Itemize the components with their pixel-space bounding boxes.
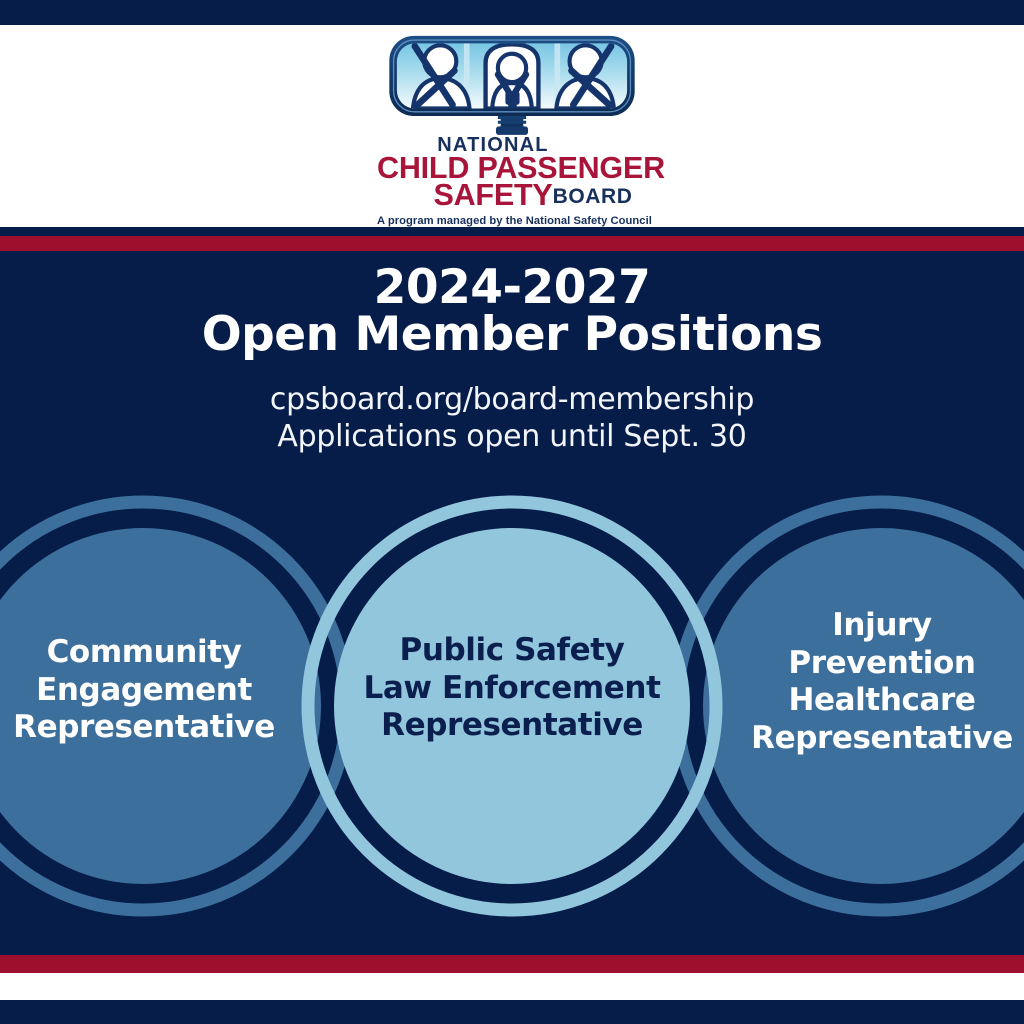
position-circles-group: Community Engagement Representative Publ… <box>0 0 1024 1024</box>
circles-svg <box>0 0 1024 1024</box>
circle-label-line: Healthcare <box>742 682 1022 720</box>
circle-label-line: Law Enforcement <box>342 670 682 708</box>
circle-label-line: Representative <box>342 707 682 745</box>
circle-label-community-engagement: Community Engagement Representative <box>4 634 284 747</box>
circle-label-line: Public Safety <box>342 632 682 670</box>
circle-label-line: Prevention <box>742 645 1022 683</box>
circle-label-line: Representative <box>4 709 284 747</box>
poster-canvas: NATIONAL CHILD PASSENGER SAFETYBOARD A p… <box>0 0 1024 1024</box>
circle-label-injury-prevention-healthcare: Injury Prevention Healthcare Representat… <box>742 607 1022 757</box>
circle-label-line: Representative <box>742 720 1022 758</box>
circle-label-line: Engagement <box>4 672 284 710</box>
circle-label-public-safety-law-enforcement: Public Safety Law Enforcement Representa… <box>342 632 682 745</box>
circle-label-line: Injury <box>742 607 1022 645</box>
circle-label-line: Community <box>4 634 284 672</box>
